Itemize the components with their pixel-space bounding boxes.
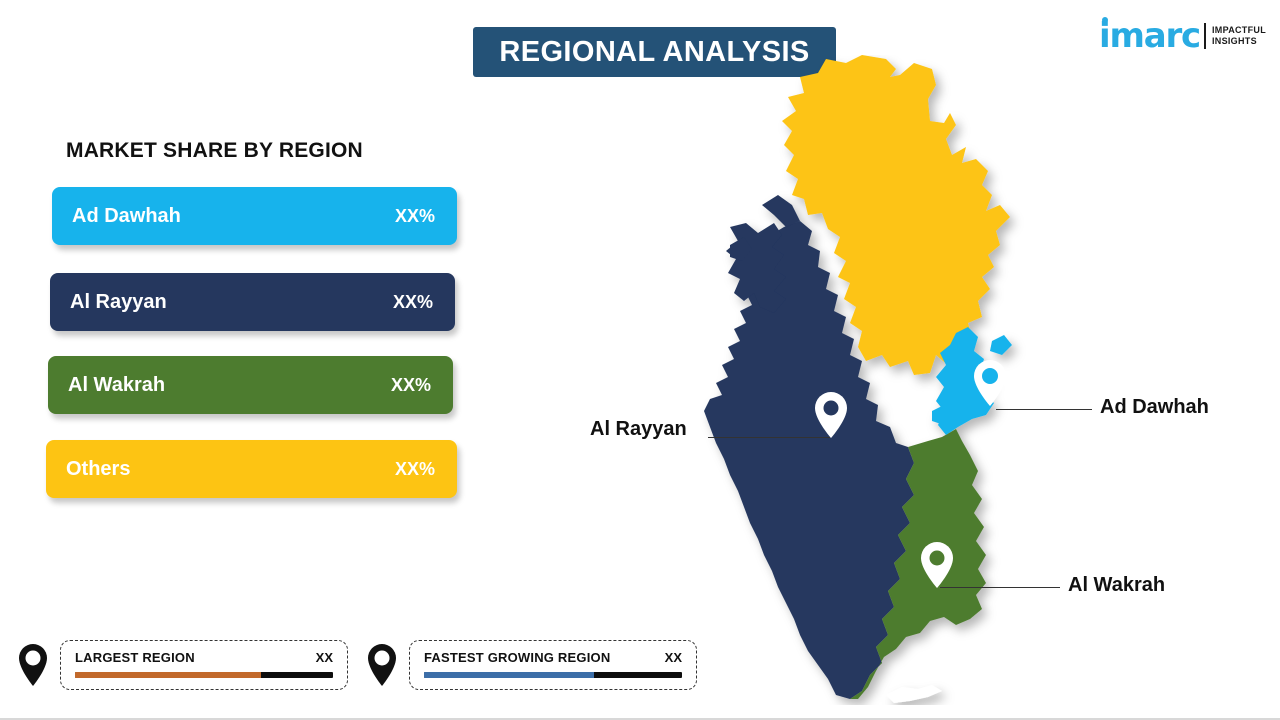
logo-dot-icon	[1102, 17, 1108, 23]
legend-fastest-box: FASTEST GROWING REGION XX	[409, 640, 697, 690]
map-pin-icon	[365, 643, 399, 687]
market-share-heading: MARKET SHARE BY REGION	[66, 139, 363, 163]
legend-largest-fill	[75, 672, 261, 678]
map-callout-al-rayyan: Al Rayyan	[590, 418, 687, 441]
logo-tagline-line1: IMPACTFUL	[1212, 25, 1266, 36]
map-callout-ad-dawhah: Ad Dawhah	[1100, 396, 1209, 419]
slide-canvas: REGIONAL ANALYSIS imarc IMPACTFUL INSIGH…	[0, 0, 1280, 720]
imarc-logo: imarc IMPACTFUL INSIGHTS	[1099, 16, 1266, 56]
legend-largest-value: XX	[316, 650, 333, 665]
legend-largest-box: LARGEST REGION XX	[60, 640, 348, 690]
leader-line-al-rayyan	[708, 437, 830, 438]
leader-line-al-wakrah	[940, 587, 1060, 588]
logo-wordmark: imarc	[1099, 16, 1200, 56]
market-share-bar-al-wakrah[interactable]: Al Wakrah XX%	[48, 356, 453, 414]
map-region-al-wakrah-islet	[886, 685, 942, 703]
legend-fastest-track	[424, 672, 682, 678]
logo-tagline: IMPACTFUL INSIGHTS	[1212, 25, 1266, 47]
market-share-bar-label: Al Rayyan	[70, 291, 167, 314]
legend-fastest-row: FASTEST GROWING REGION XX	[424, 650, 682, 665]
legend-fastest-fill	[424, 672, 594, 678]
map-pin-icon	[16, 643, 50, 687]
market-share-bar-label: Al Wakrah	[68, 374, 165, 397]
legend-largest-title: LARGEST REGION	[75, 650, 195, 665]
map-region-coast-finger	[762, 195, 800, 227]
market-share-bar-label: Others	[66, 458, 130, 481]
market-share-bar-ad-dawhah[interactable]: Ad Dawhah XX%	[52, 187, 457, 245]
map-region-ad-dawhah-offshore	[990, 335, 1012, 355]
legend-largest-region: LARGEST REGION XX	[16, 640, 348, 690]
legend-largest-row: LARGEST REGION XX	[75, 650, 333, 665]
logo-divider	[1204, 23, 1206, 49]
market-share-bar-al-rayyan[interactable]: Al Rayyan XX%	[50, 273, 455, 331]
map-callout-al-wakrah: Al Wakrah	[1068, 574, 1165, 597]
legend-fastest-growing-region: FASTEST GROWING REGION XX	[365, 640, 697, 690]
market-share-bar-others[interactable]: Others XX%	[46, 440, 457, 498]
market-share-bar-value: XX%	[393, 292, 433, 313]
leader-line-ad-dawhah	[996, 409, 1092, 410]
market-share-bar-value: XX%	[391, 375, 431, 396]
market-share-bar-value: XX%	[395, 206, 435, 227]
legend-largest-track	[75, 672, 333, 678]
qatar-map	[700, 55, 1060, 705]
market-share-bar-value: XX%	[395, 459, 435, 480]
logo-wordmark-wrap: imarc	[1099, 19, 1200, 53]
logo-tagline-line2: INSIGHTS	[1212, 36, 1266, 47]
qatar-map-svg	[700, 55, 1060, 705]
legend-fastest-value: XX	[665, 650, 682, 665]
market-share-bar-label: Ad Dawhah	[72, 205, 181, 228]
legend-fastest-title: FASTEST GROWING REGION	[424, 650, 610, 665]
